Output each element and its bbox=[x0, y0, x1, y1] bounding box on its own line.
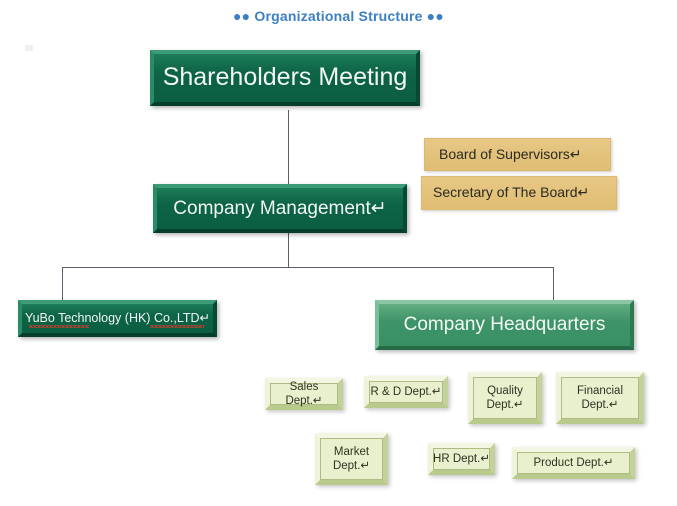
node-company-headquarters-label: Company Headquarters bbox=[404, 313, 606, 337]
node-department-rnd[interactable]: R & D Dept.↵ bbox=[364, 376, 448, 408]
node-yubo-technology-label: YuBo Technology (HK) Co.,LTD↵ bbox=[25, 311, 210, 327]
node-department-product[interactable]: Product Dept.↵ bbox=[512, 447, 635, 479]
node-shareholders-meeting-label: Shareholders Meeting bbox=[163, 62, 408, 93]
page-title: ●● Organizational Structure ●● bbox=[0, 8, 677, 24]
node-board-of-supervisors[interactable]: Board of Supervisors↵ bbox=[424, 138, 611, 171]
node-company-management-label: Company Management↵ bbox=[173, 197, 386, 221]
node-secretary-of-the-board-label: Secretary of The Board↵ bbox=[433, 184, 589, 202]
node-department-quality-label: Quality Dept.↵ bbox=[486, 384, 523, 413]
node-department-market-label: Market Dept.↵ bbox=[333, 445, 370, 474]
node-company-management[interactable]: Company Management↵ bbox=[153, 184, 407, 233]
node-board-of-supervisors-label: Board of Supervisors↵ bbox=[439, 146, 581, 164]
page-artifact-mark bbox=[25, 45, 33, 51]
connector-bus-to-yubo bbox=[62, 267, 63, 300]
node-department-market[interactable]: Market Dept.↵ bbox=[315, 433, 388, 485]
node-department-quality[interactable]: Quality Dept.↵ bbox=[468, 372, 542, 424]
connector-bus-to-headquarters bbox=[553, 267, 554, 300]
node-department-hr[interactable]: HR Dept.↵ bbox=[428, 443, 495, 475]
node-department-financial-label: Financial Dept.↵ bbox=[577, 384, 623, 413]
node-department-product-label: Product Dept.↵ bbox=[534, 456, 614, 470]
node-department-sales-label: Sales Dept.↵ bbox=[270, 380, 338, 409]
node-secretary-of-the-board[interactable]: Secretary of The Board↵ bbox=[421, 176, 617, 210]
connector-horizontal-bus bbox=[62, 267, 554, 268]
node-department-hr-label: HR Dept.↵ bbox=[433, 452, 490, 466]
node-yubo-technology[interactable]: YuBo Technology (HK) Co.,LTD↵ bbox=[18, 300, 217, 337]
node-department-sales[interactable]: Sales Dept.↵ bbox=[265, 378, 343, 410]
connector-shareholders-to-management bbox=[288, 110, 289, 185]
node-department-rnd-label: R & D Dept.↵ bbox=[371, 385, 442, 399]
node-shareholders-meeting[interactable]: Shareholders Meeting bbox=[150, 50, 420, 106]
organizational-chart-canvas: ●● Organizational Structure ●● Sharehold… bbox=[0, 0, 677, 506]
connector-management-down bbox=[288, 232, 289, 267]
node-company-headquarters[interactable]: Company Headquarters bbox=[375, 300, 634, 350]
node-department-financial[interactable]: Financial Dept.↵ bbox=[556, 372, 644, 424]
